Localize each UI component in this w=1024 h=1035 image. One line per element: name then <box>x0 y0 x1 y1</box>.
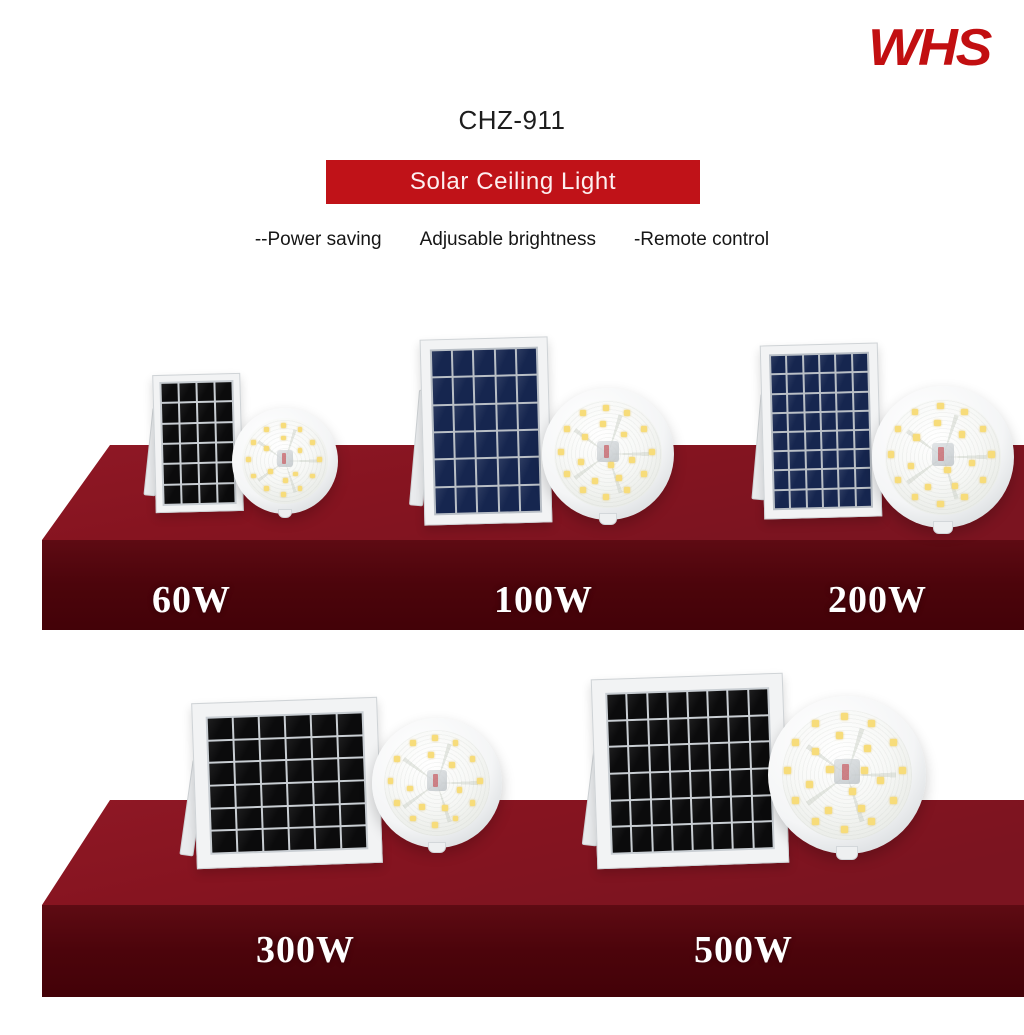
platform-label-300w: 300W <box>256 928 355 972</box>
feature-list: --Power saving Adjusable brightness -Rem… <box>0 229 1024 251</box>
solar-panel-100w <box>420 336 553 525</box>
panel-cells-500w <box>606 687 775 854</box>
panel-cells-200w <box>769 352 873 510</box>
product-poster: WHS CHZ-911 Solar Ceiling Light --Power … <box>0 0 1024 1024</box>
product-100w <box>404 330 684 545</box>
solar-panel-500w <box>591 673 790 870</box>
solar-panel-60w <box>152 373 244 513</box>
product-200w <box>748 338 1024 538</box>
ceiling-light-200w <box>872 386 1014 528</box>
ceiling-light-500w <box>768 696 926 854</box>
panel-cells-60w <box>159 380 236 506</box>
feature-power-saving: --Power saving <box>255 229 382 251</box>
product-300w <box>178 690 508 880</box>
lamp-module-300w <box>427 770 448 791</box>
lamp-clip-200w <box>933 521 953 534</box>
lamp-module-100w <box>597 441 618 462</box>
ceiling-light-300w <box>372 718 502 848</box>
feature-adjusable-brightness: Adjusable brightness <box>420 229 596 251</box>
solar-panel-300w <box>191 697 383 869</box>
banner-title: Solar Ceiling Light <box>410 168 616 196</box>
whs-logo: WHS <box>868 22 990 74</box>
lamp-clip-300w <box>428 842 446 854</box>
platform-label-60w: 60W <box>152 578 231 622</box>
panel-cells-300w <box>206 711 369 855</box>
feature-remote-control: -Remote control <box>634 229 769 251</box>
lamp-clip-100w <box>599 513 617 525</box>
ceiling-light-60w <box>232 408 338 514</box>
ceiling-light-100w <box>542 388 674 520</box>
lamp-clip-60w <box>278 509 293 519</box>
platform-label-200w: 200W <box>828 578 927 622</box>
lamp-module-60w <box>277 450 294 467</box>
model-code: CHZ-911 <box>0 105 1024 136</box>
lamp-module-200w <box>932 443 955 466</box>
lamp-module-500w <box>834 759 859 784</box>
solar-panel-200w <box>760 342 883 519</box>
platform-label-500w: 500W <box>694 928 793 972</box>
product-60w <box>140 360 340 530</box>
panel-cells-100w <box>430 346 543 515</box>
title-banner: Solar Ceiling Light <box>326 160 700 204</box>
product-500w <box>578 668 938 878</box>
lamp-clip-500w <box>836 846 858 860</box>
platform-label-100w: 100W <box>494 578 593 622</box>
